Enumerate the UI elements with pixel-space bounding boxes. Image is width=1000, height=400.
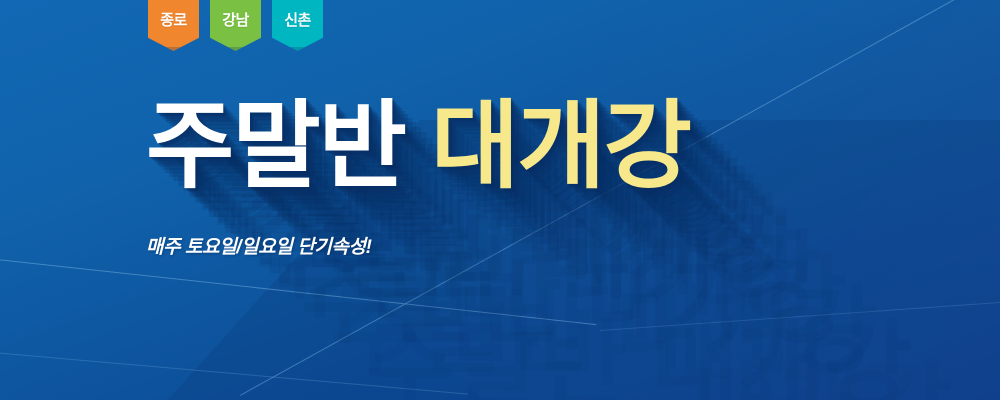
headline: 주말반대개강 <box>146 96 690 198</box>
location-tag-label: 강남 <box>222 0 249 28</box>
location-tag-sinchon[interactable]: 신촌 <box>272 0 323 51</box>
location-tag-label: 신촌 <box>284 0 311 28</box>
hairline-3 <box>0 350 468 395</box>
location-tag-gangnam[interactable]: 강남 <box>210 0 261 51</box>
location-tag-group: 종로 강남 신촌 <box>148 0 323 51</box>
diagonal-light-wedge <box>343 0 1000 400</box>
hairline-1 <box>0 255 596 325</box>
subtitle: 매주 토요일/일요일 단기속성! <box>146 232 372 259</box>
hairline-4 <box>600 294 1000 331</box>
background-decoration <box>0 0 1000 400</box>
promo-banner: 종로 강남 신촌 주말반대개강 매주 토요일/일요일 단기속성! <box>0 0 1000 400</box>
location-tag-label: 종로 <box>160 0 187 28</box>
headline-accent: 대개강 <box>431 93 690 200</box>
headline-primary: 주말반 <box>146 93 405 200</box>
location-tag-jongno[interactable]: 종로 <box>148 0 199 51</box>
